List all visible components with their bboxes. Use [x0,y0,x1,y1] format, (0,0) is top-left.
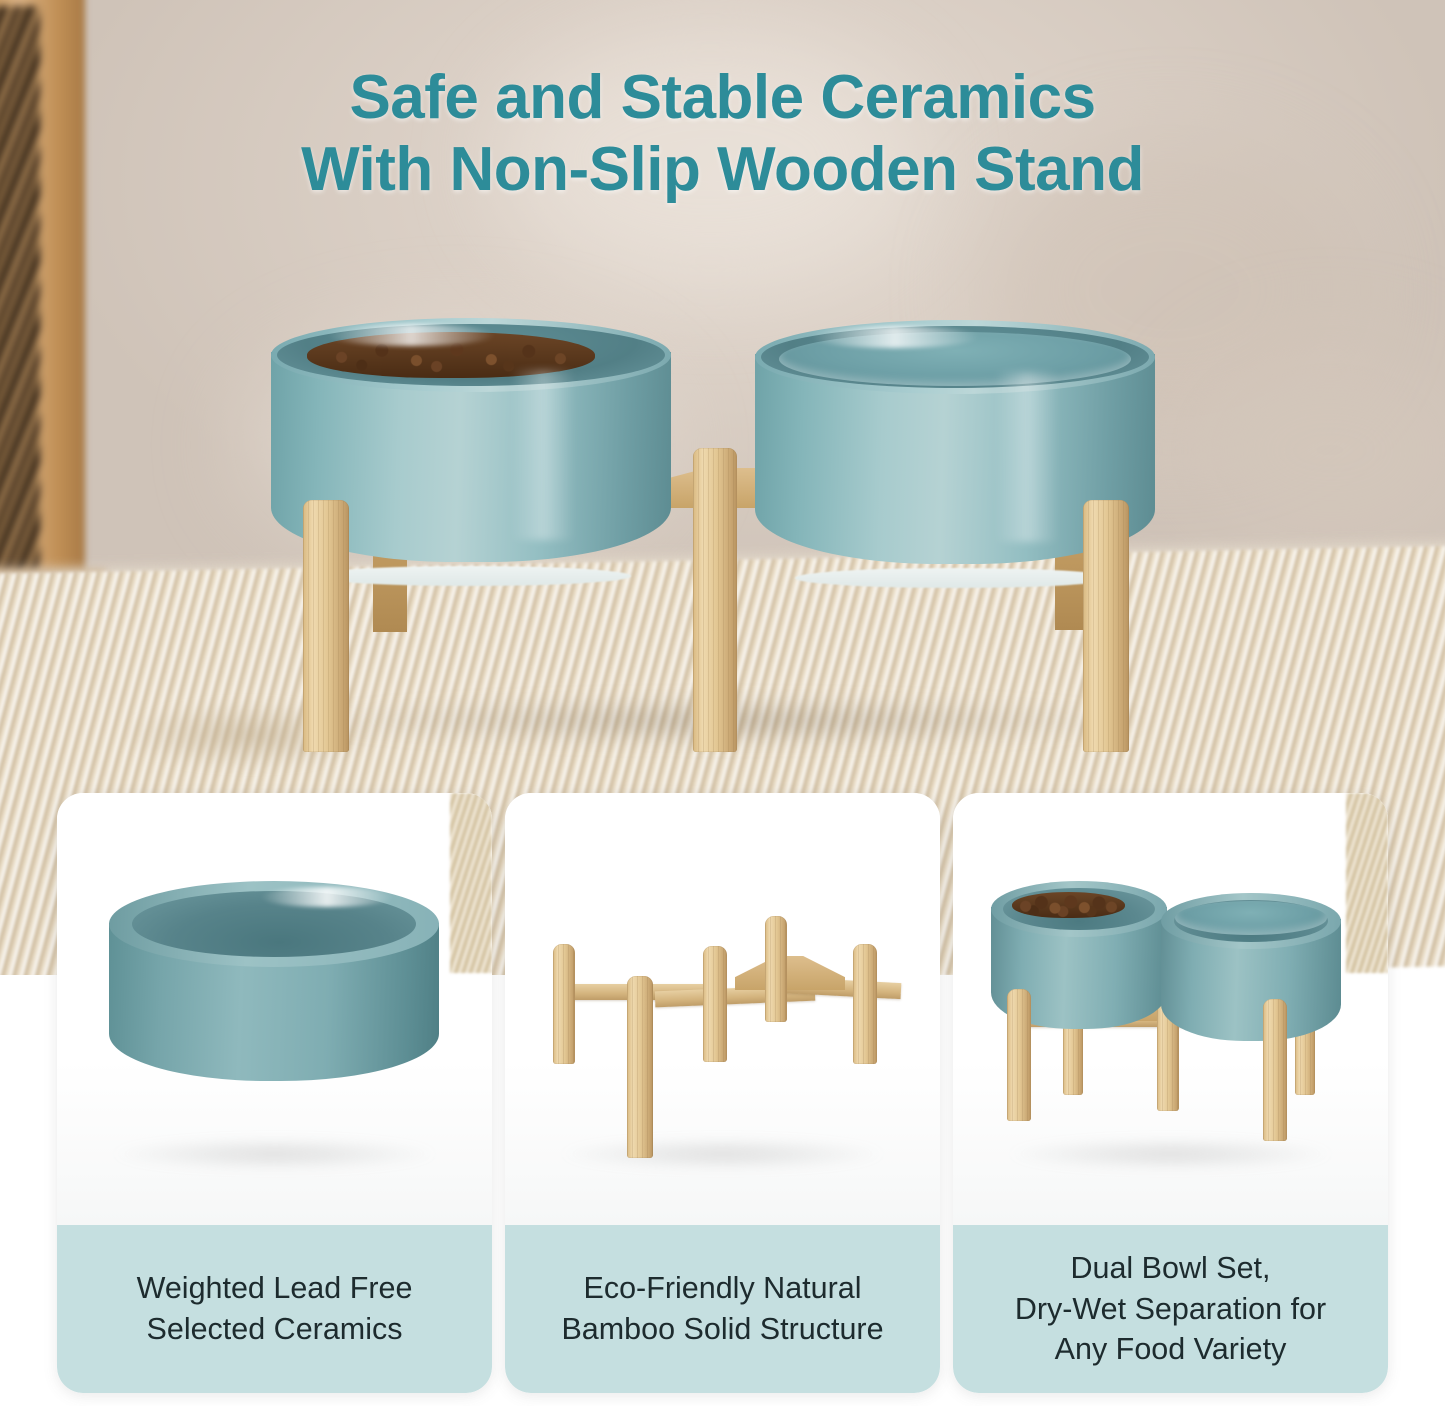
set-water-bowl [1161,893,1341,1043]
caption-line-2: Dry-Wet Separation for [1015,1292,1326,1326]
water-surface [1175,901,1326,935]
stand-center-plate [735,956,845,990]
bowl-foot [311,566,631,586]
dual-bowl-set [975,863,1371,1163]
stand-post-1 [553,944,575,1064]
caption-line-3: Any Food Variety [1055,1332,1287,1366]
caption-line-2: Selected Ceramics [147,1312,403,1346]
stand-post-2 [627,976,653,1158]
stand-post-5 [853,944,877,1064]
card-product-shadow [109,1137,440,1171]
card-product-shadow [557,1137,888,1171]
page-title: Safe and Stable Ceramics With Non-Slip W… [0,62,1445,206]
caption-line-1: Dual Bowl Set, [1070,1251,1270,1285]
card-corner-rug [450,793,492,973]
feature-card-bamboo-structure[interactable]: Eco-Friendly Natural Bamboo Solid Struct… [505,793,940,1393]
single-ceramic-bowl [109,881,439,1101]
caption-line-1: Weighted Lead Free [137,1271,413,1305]
caption-line-1: Eco-Friendly Natural [584,1271,862,1305]
headline-line-1: Safe and Stable Ceramics [349,63,1095,132]
feature-card-weighted-ceramics[interactable]: Weighted Lead Free Selected Ceramics [57,793,492,1393]
bowl-highlight [811,326,979,348]
stand-foreground-center-post [693,448,737,752]
caption-line-2: Bamboo Solid Structure [561,1312,883,1346]
feature-card-dual-bowl-set[interactable]: Dual Bowl Set, Dry-Wet Separation for An… [953,793,1388,1393]
bamboo-stand-frame [535,888,915,1138]
feature-cards: Weighted Lead Free Selected Ceramics [0,793,1445,1406]
bowl-highlight [327,324,495,346]
hero-product [255,300,1185,780]
stand-foreground-post-left [303,500,349,752]
bowl-highlight [261,887,393,907]
bowl-side-highlight [995,372,1059,542]
stand-foreground-post-right [1083,500,1129,752]
stand-post-3 [703,946,727,1062]
card-caption-dual-bowl-set: Dual Bowl Set, Dry-Wet Separation for An… [953,1225,1388,1393]
set-stand-front-post-right [1263,999,1287,1141]
card-photo-single-bowl [57,793,492,1225]
stand-post-4 [765,916,787,1022]
card-photo-dual-bowl-set [953,793,1388,1225]
kibble-food [1012,892,1125,918]
set-stand-front-post-left [1007,989,1031,1121]
card-caption-bamboo-structure: Eco-Friendly Natural Bamboo Solid Struct… [505,1225,940,1393]
card-caption-weighted-ceramics: Weighted Lead Free Selected Ceramics [57,1225,492,1393]
card-photo-bamboo-stand [505,793,940,1225]
bowl-foot [795,568,1115,588]
bowl-side-highlight [511,370,575,540]
headline-line-2: With Non-Slip Wooden Stand [0,134,1445,206]
